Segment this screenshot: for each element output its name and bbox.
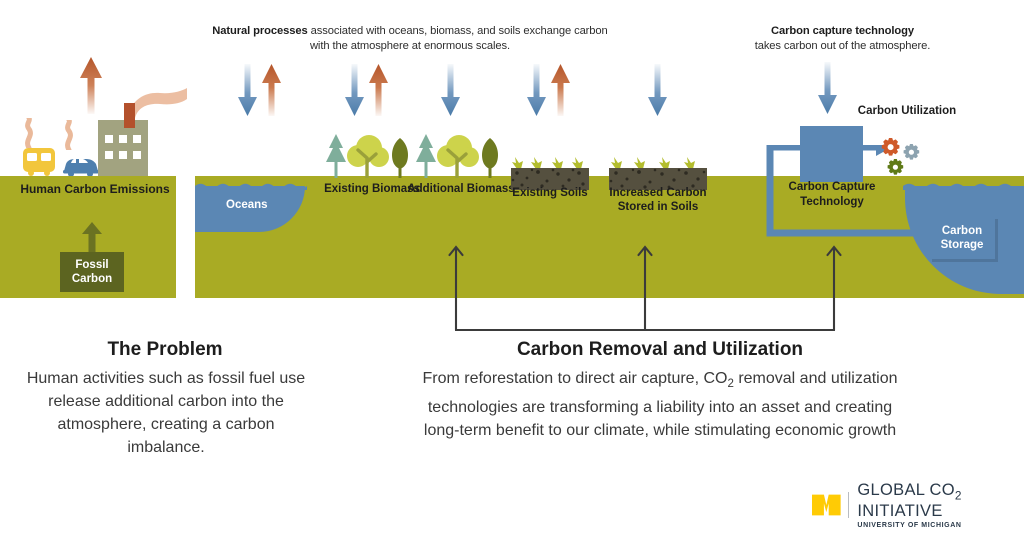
fossil-carbon-up-arrow xyxy=(82,222,102,254)
exchange-arrow-down-2 xyxy=(345,64,364,116)
wave-edge-left xyxy=(195,183,307,190)
gci-logo: GLOBAL CO2 INITIATIVE UNIVERSITY OF MICH… xyxy=(812,487,1012,523)
label-existing-soils: Existing Soils xyxy=(505,186,595,200)
existing-biomass-trees xyxy=(322,128,422,178)
factory-smoke-plume xyxy=(126,88,188,118)
caption-ccs-rest: takes carbon out of the atmosphere. xyxy=(755,40,931,52)
label-carbon-capture-technology: Carbon Capture Technology xyxy=(772,180,892,209)
logo-sub-text: UNIVERSITY OF MICHIGAN xyxy=(857,522,1012,529)
label-oceans: Oceans xyxy=(226,199,268,211)
exchange-arrow-down-ccs xyxy=(818,62,837,114)
caption-natural-bold: Natural processes xyxy=(212,25,307,37)
land-right-notch xyxy=(0,0,110,40)
problem-body: Human activities such as fossil fuel use… xyxy=(18,367,314,459)
label-human-carbon-emissions: Human Carbon Emissions xyxy=(20,182,170,197)
michigan-m-icon xyxy=(812,492,841,518)
caption-carbon-capture: Carbon capture technology takes carbon o… xyxy=(700,24,985,53)
carbon-storage-box: Carbon Storage xyxy=(929,216,995,259)
exchange-arrow-up-1 xyxy=(262,64,281,116)
bus-icon xyxy=(22,146,56,176)
exchange-arrow-down-1 xyxy=(238,64,257,116)
removal-body-pre: From reforestation to direct air capture… xyxy=(422,370,727,387)
caption-natural-rest: associated with oceans, biomass, and soi… xyxy=(308,25,608,52)
logo-text: GLOBAL CO2 INITIATIVE UNIVERSITY OF MICH… xyxy=(857,481,1012,529)
caption-ccs-bold: Carbon capture technology xyxy=(771,25,914,37)
caption-natural-processes: Natural processes associated with oceans… xyxy=(205,24,615,53)
car-icon xyxy=(62,155,100,177)
label-additional-biomass: Additional Biomass xyxy=(406,182,516,196)
emissions-up-arrow xyxy=(80,57,102,114)
exchange-arrow-down-5 xyxy=(648,64,667,116)
removal-body: From reforestation to direct air capture… xyxy=(410,367,910,442)
problem-title: The Problem xyxy=(40,339,290,361)
carbon-capture-unit xyxy=(800,126,863,182)
logo-main-text: GLOBAL CO2 INITIATIVE xyxy=(857,481,1012,521)
removal-title: Carbon Removal and Utilization xyxy=(440,339,880,361)
exchange-arrow-down-4 xyxy=(527,64,546,116)
additional-biomass-trees xyxy=(412,128,512,178)
logo-divider xyxy=(848,492,849,518)
logo-main-end: INITIATIVE xyxy=(857,502,942,520)
smokestack-icon xyxy=(124,103,135,128)
car-smoke-icon xyxy=(62,120,76,150)
logo-main-pre: GLOBAL CO xyxy=(857,481,954,499)
infographic-canvas: Natural processes associated with oceans… xyxy=(0,0,1024,538)
label-carbon-utilization: Carbon Utilization xyxy=(852,104,962,118)
removal-bracket xyxy=(445,240,845,335)
label-increased-soils: Increased Carbon Stored in Soils xyxy=(595,186,721,214)
logo-main-sub: 2 xyxy=(955,488,962,502)
exchange-arrow-down-3 xyxy=(441,64,460,116)
fossil-carbon-box: Fossil Carbon xyxy=(60,252,124,292)
factory-icon xyxy=(98,120,148,177)
exchange-arrow-up-4 xyxy=(551,64,570,116)
exchange-arrow-up-2 xyxy=(369,64,388,116)
bus-smoke-icon xyxy=(22,118,36,148)
gears-icon xyxy=(876,136,930,180)
